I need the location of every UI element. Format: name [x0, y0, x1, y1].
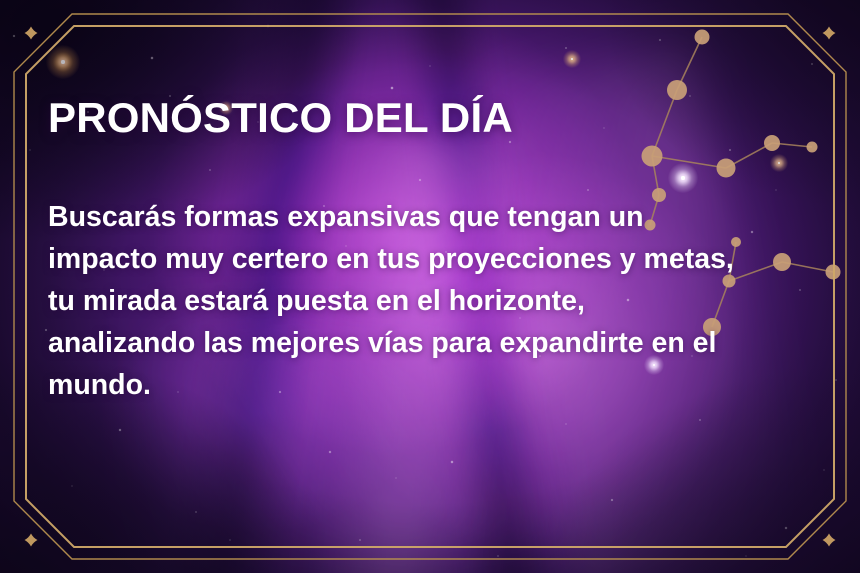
- forecast-body-line-1: Buscarás formas expansivas que tengan un: [48, 196, 796, 238]
- page-title: PRONÓSTICO DEL DÍA: [48, 94, 513, 142]
- constellation-node: [826, 265, 841, 280]
- forecast-body-line-5: mundo.: [48, 364, 796, 406]
- constellation-node: [807, 142, 818, 153]
- pronostico-del-dia-card: PRONÓSTICO DEL DÍA Buscarás formas expan…: [0, 0, 860, 573]
- text-content: PRONÓSTICO DEL DÍA Buscarás formas expan…: [48, 0, 788, 573]
- forecast-body-text: Buscarás formas expansivas que tengan un…: [48, 196, 796, 406]
- forecast-body-line-3: tu mirada estará puesta en el horizonte,: [48, 280, 796, 322]
- forecast-body-line-2: impacto muy certero en tus proyecciones …: [48, 238, 796, 280]
- forecast-body-line-4: analizando las mejores vías para expandi…: [48, 322, 796, 364]
